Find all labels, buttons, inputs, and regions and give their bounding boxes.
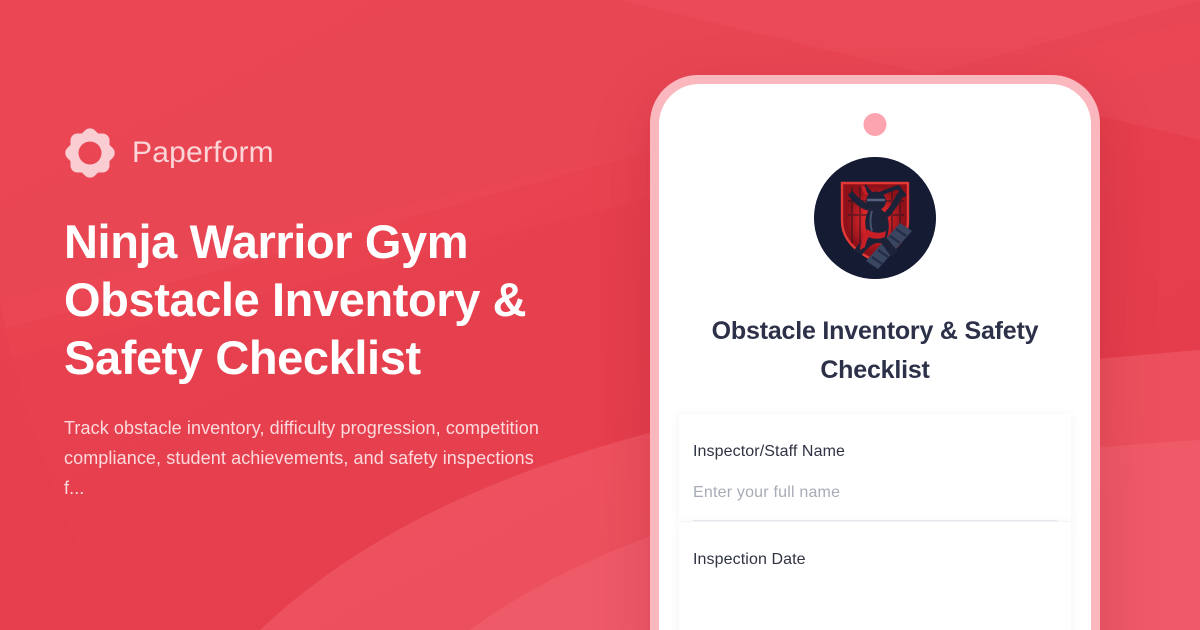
field-label: Inspection Date <box>693 549 1057 571</box>
field-placeholder: Enter your full name <box>693 483 840 503</box>
inspection-date-input[interactable] <box>693 605 1057 630</box>
brand-name: Paperform <box>132 138 274 168</box>
phone-mockup: Obstacle Inventory & Safety Checklist In… <box>650 75 1100 630</box>
template-preview-banner: Paperform Ninja Warrior Gym Obstacle Inv… <box>0 0 1200 630</box>
brand-lockup: Paperform <box>64 127 624 179</box>
inspector-staff-name-input[interactable]: Enter your full name <box>693 483 1057 521</box>
form-title: Obstacle Inventory & Safety Checklist <box>659 312 1091 390</box>
page-description: Track obstacle inventory, difficulty pro… <box>64 413 554 503</box>
field-label: Inspector/Staff Name <box>693 441 1057 463</box>
form-field-inspection-date[interactable]: Inspection Date <box>679 522 1071 630</box>
page-title: Ninja Warrior Gym Obstacle Inventory & S… <box>64 213 584 387</box>
form-fields: Inspector/Staff Name Enter your full nam… <box>679 414 1071 630</box>
ninja-warrior-gym-avatar-svg <box>814 157 936 279</box>
paperform-logo-svg <box>64 127 116 179</box>
phone-screen: Obstacle Inventory & Safety Checklist In… <box>659 84 1091 630</box>
camera-dot-icon <box>864 113 887 136</box>
hero-column: Paperform Ninja Warrior Gym Obstacle Inv… <box>64 0 624 630</box>
paperform-star-logo-icon <box>64 127 116 179</box>
ninja-warrior-gym-avatar <box>814 157 936 279</box>
form-field-inspector-staff-name[interactable]: Inspector/Staff Name Enter your full nam… <box>679 414 1071 521</box>
